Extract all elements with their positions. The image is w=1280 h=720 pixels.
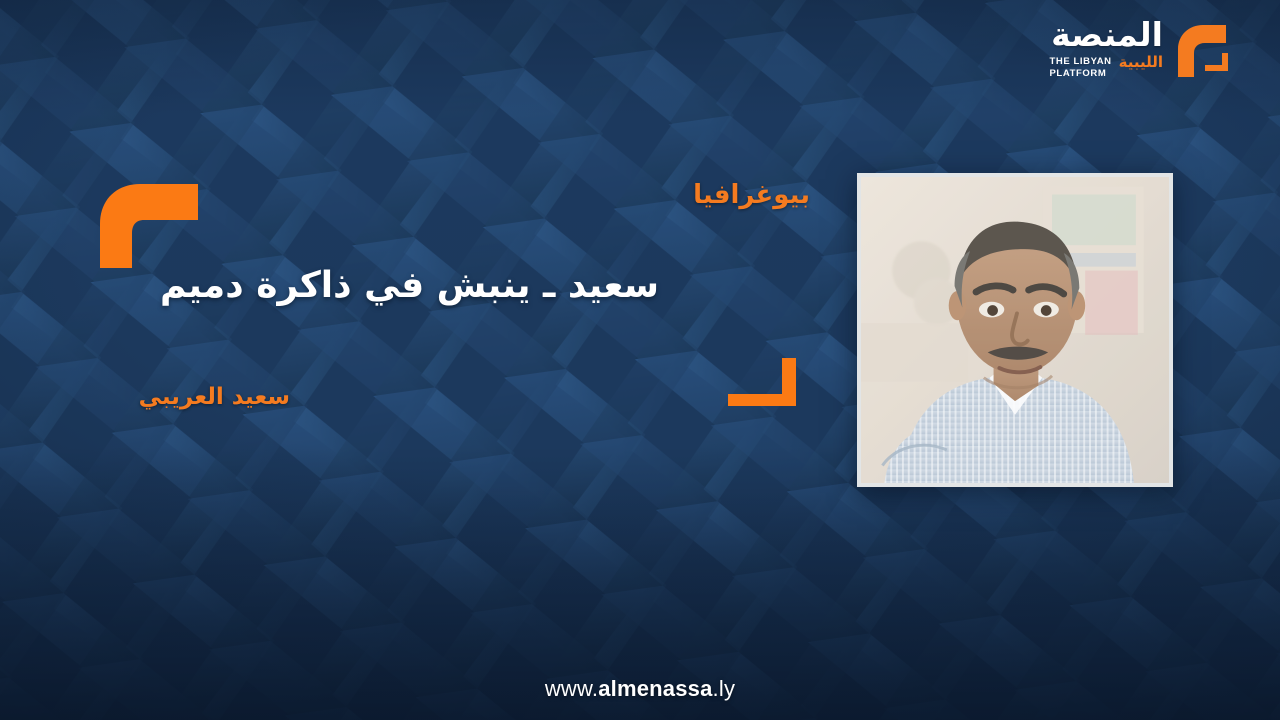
orange-tick-shape-icon [726, 356, 800, 410]
portrait-illustration [861, 177, 1169, 483]
logo-subtitle-row: THE LIBYAN PLATFORM الليبية [1049, 55, 1163, 80]
logo-wordmark: المنصة THE LIBYAN PLATFORM الليبية [1049, 18, 1163, 80]
logo-arabic-subtitle: الليبية [1119, 55, 1163, 71]
author-portrait-photo [857, 173, 1173, 487]
website-url[interactable]: www.almenassa.ly [0, 676, 1280, 702]
logo-english-line1: THE LIBYAN [1049, 56, 1111, 67]
almenassa-hook-mark-icon [1172, 19, 1234, 79]
site-logo[interactable]: المنصة THE LIBYAN PLATFORM الليبية [1049, 18, 1234, 80]
logo-english-title: THE LIBYAN PLATFORM [1049, 55, 1111, 80]
author-name: سعيد العريبي [139, 384, 290, 410]
logo-arabic-title: المنصة [1051, 18, 1163, 51]
poster-canvas: المنصة THE LIBYAN PLATFORM الليبية بيوغر… [0, 0, 1280, 720]
url-prefix: www. [545, 676, 598, 701]
orange-hook-shape-icon [98, 180, 200, 270]
url-tld: .ly [713, 676, 736, 701]
category-label: بيوغرافيا [693, 180, 810, 210]
url-brand: almenassa [598, 676, 712, 701]
page-title: سعيد ـ ينبش في ذاكرة دميم [160, 263, 680, 308]
logo-english-line2: PLATFORM [1049, 68, 1106, 79]
